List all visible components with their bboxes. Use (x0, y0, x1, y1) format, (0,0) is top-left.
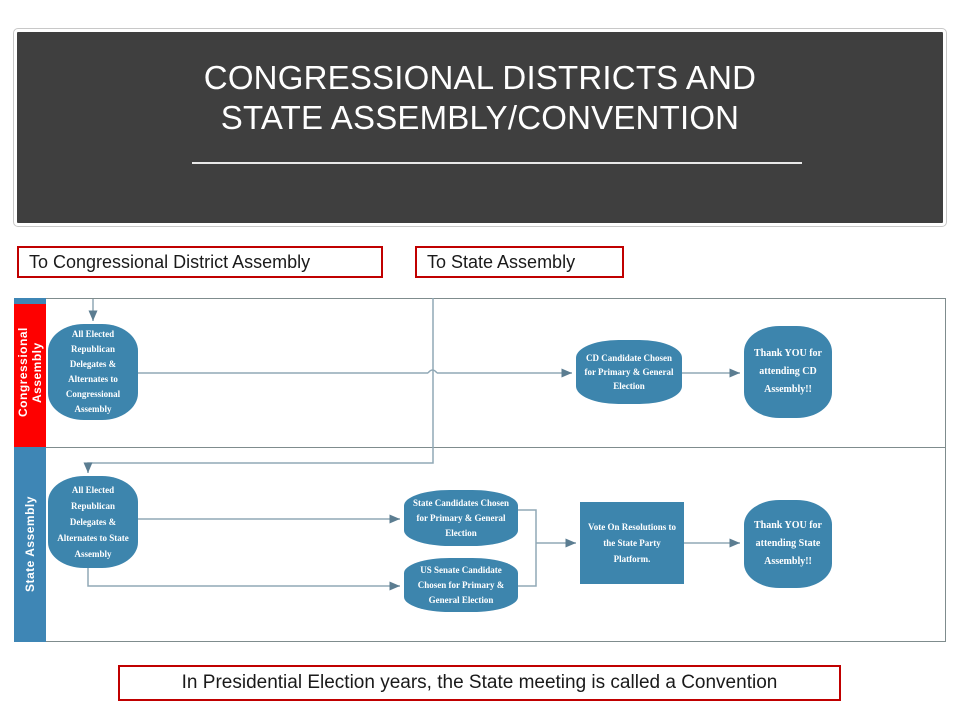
connector-merge-bottom (518, 543, 536, 586)
node-cd-thanks-label: Thank YOU for attending CD Assembly!! (748, 345, 828, 399)
node-state-delegates-label: All Elected Republican Delegates & Alter… (52, 482, 134, 562)
page-title: CONGRESSIONAL DISTRICTS AND STATE ASSEMB… (17, 58, 943, 138)
node-us-senate-candidate[interactable]: US Senate Candidate Chosen for Primary &… (404, 558, 518, 612)
swimlane-diagram: Congressional Assembly State Assembly (14, 295, 946, 645)
callout-to-state-assembly: To State Assembly (415, 246, 624, 278)
node-us-senate-candidate-label: US Senate Candidate Chosen for Primary &… (408, 563, 514, 608)
node-state-delegates[interactable]: All Elected Republican Delegates & Alter… (48, 476, 138, 568)
node-cd-candidate[interactable]: CD Candidate Chosen for Primary & Genera… (576, 340, 682, 404)
callout-convention-note: In Presidential Election years, the Stat… (118, 665, 841, 701)
node-state-thanks[interactable]: Thank YOU for attending State Assembly!! (744, 500, 832, 588)
node-cd-thanks[interactable]: Thank YOU for attending CD Assembly!! (744, 326, 832, 418)
node-vote-label: Vote On Resolutions to the State Party P… (584, 519, 680, 567)
title-banner: CONGRESSIONAL DISTRICTS AND STATE ASSEMB… (14, 29, 946, 226)
callout-to-congressional-district-assembly: To Congressional District Assembly (17, 246, 383, 278)
connector-merge-top (518, 510, 536, 543)
node-state-candidates[interactable]: State Candidates Chosen for Primary & Ge… (404, 490, 518, 546)
node-state-thanks-label: Thank YOU for attending State Assembly!! (748, 517, 828, 571)
connector-us-senate (88, 568, 400, 586)
node-cd-delegates[interactable]: All Elected Republican Delegates & Alter… (48, 324, 138, 420)
node-vote-on-resolutions[interactable]: Vote On Resolutions to the State Party P… (580, 502, 684, 584)
connector-entry-state (88, 298, 433, 473)
node-cd-candidate-label: CD Candidate Chosen for Primary & Genera… (580, 351, 678, 393)
title-divider (192, 162, 802, 164)
slide-canvas: CONGRESSIONAL DISTRICTS AND STATE ASSEMB… (0, 0, 960, 720)
node-cd-delegates-label: All Elected Republican Delegates & Alter… (52, 327, 134, 417)
node-state-candidates-label: State Candidates Chosen for Primary & Ge… (408, 496, 514, 541)
